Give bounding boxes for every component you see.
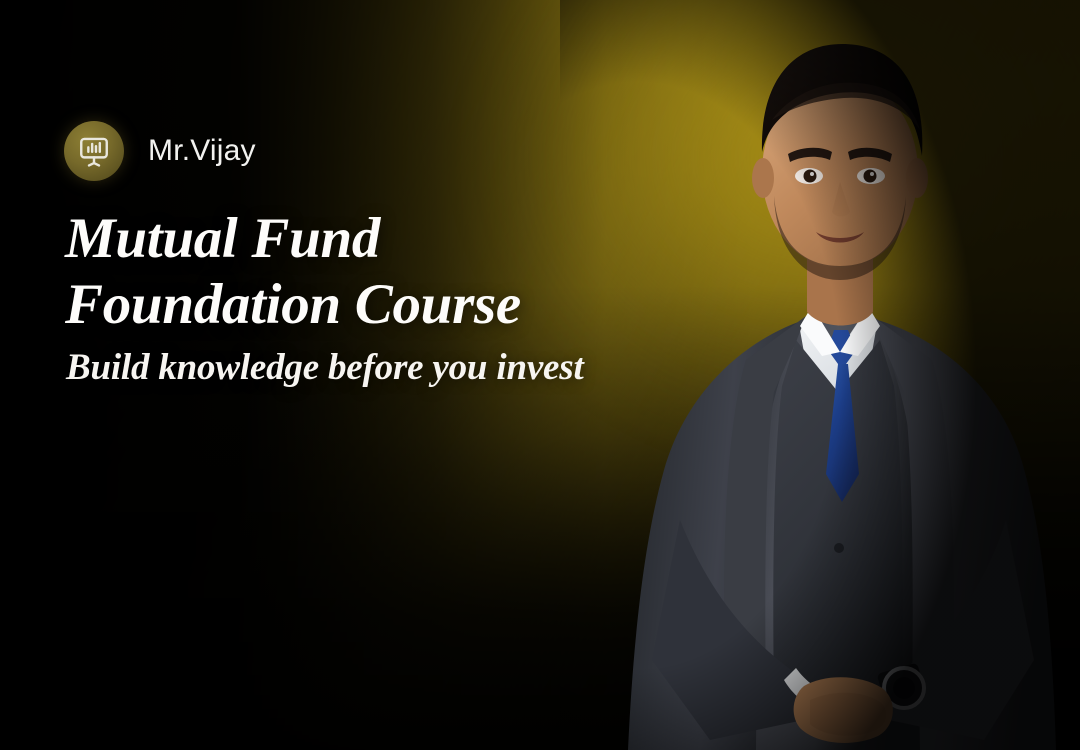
- subtitle: Build knowledge before you invest: [66, 348, 584, 389]
- headline-line-2: Foundation Course: [65, 272, 521, 338]
- headline-line-1: Mutual Fund: [65, 206, 521, 272]
- page-title: Mutual Fund Foundation Course: [65, 206, 521, 338]
- presentation-chart-board-icon: [64, 121, 124, 181]
- author-row: Mr.Vijay: [64, 121, 256, 181]
- course-promo-banner: Mr.Vijay Mutual Fund Foundation Course B…: [0, 0, 1080, 750]
- author-name: Mr.Vijay: [148, 136, 256, 166]
- banner-content: Mr.Vijay Mutual Fund Foundation Course B…: [64, 0, 684, 750]
